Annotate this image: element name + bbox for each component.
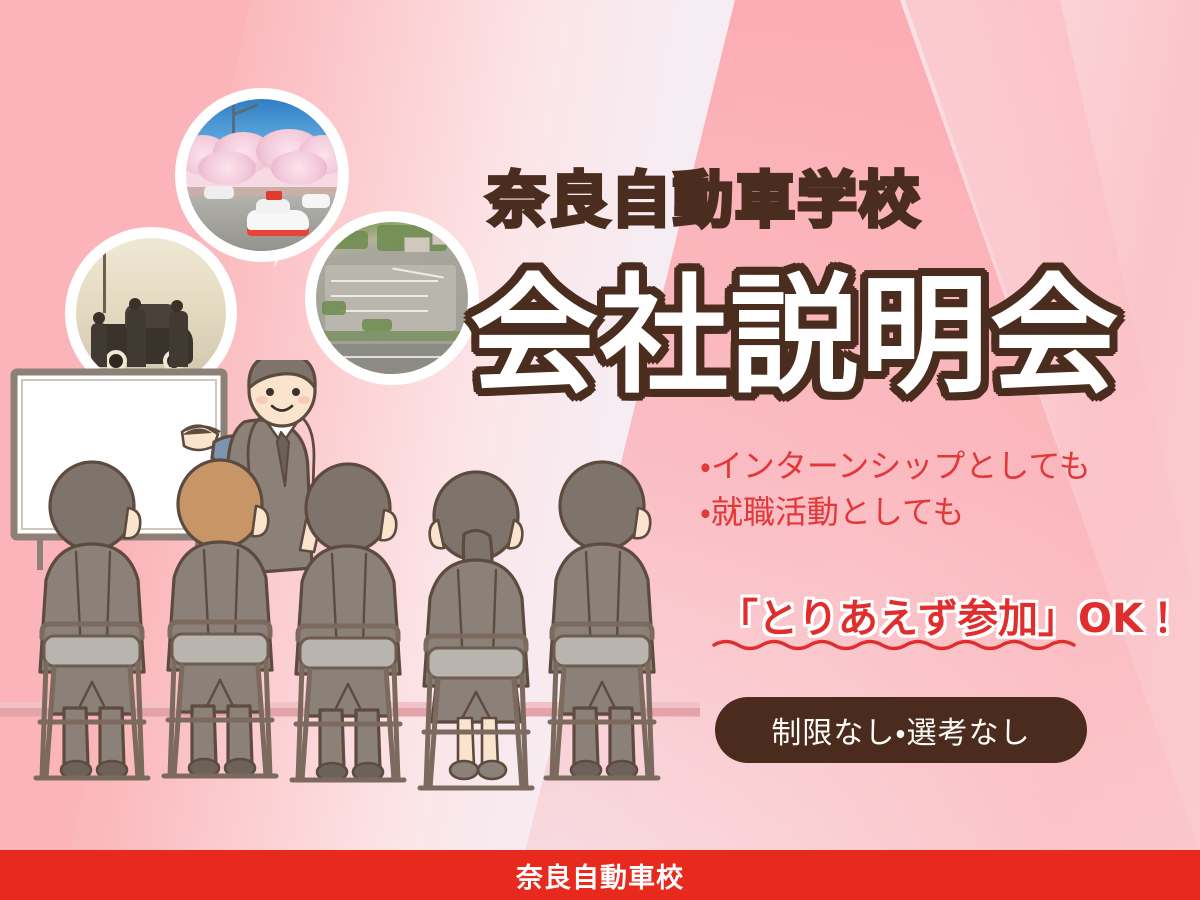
- benefit-bullet-list: ・インターンシップとしても ・就職活動としても: [700, 443, 1091, 536]
- photo-bubble-aerial: [316, 222, 468, 374]
- organization-name-heading: 奈良自動車学校: [487, 152, 921, 239]
- conditions-pill-label: 制限なし・選考なし: [771, 708, 1030, 752]
- audience-figure: [546, 462, 658, 779]
- conditions-pill-badge: 制限なし・選考なし: [715, 697, 1087, 763]
- company-briefing-illustration: .ln { fill:none; stroke:#5e4b3f; stroke-…: [0, 360, 700, 850]
- audience-figure-female: [420, 472, 532, 788]
- audience-figure: [36, 462, 148, 779]
- photo-aerial-course: [316, 222, 468, 374]
- footer-bar: 奈良自動車校: [0, 850, 1200, 900]
- poster-canvas: .ln { fill:none; stroke:#5e4b3f; stroke-…: [0, 0, 1200, 900]
- audience-figure: [164, 460, 276, 777]
- event-title-heading: 会社説明会: [470, 232, 1120, 417]
- wavy-underline-decoration: [712, 636, 1088, 652]
- footer-brand-label: 奈良自動車校: [516, 856, 684, 895]
- bullet-item: ・インターンシップとしても: [700, 443, 1091, 489]
- bullet-item: ・就職活動としても: [700, 489, 1091, 535]
- audience-figure: [292, 464, 404, 781]
